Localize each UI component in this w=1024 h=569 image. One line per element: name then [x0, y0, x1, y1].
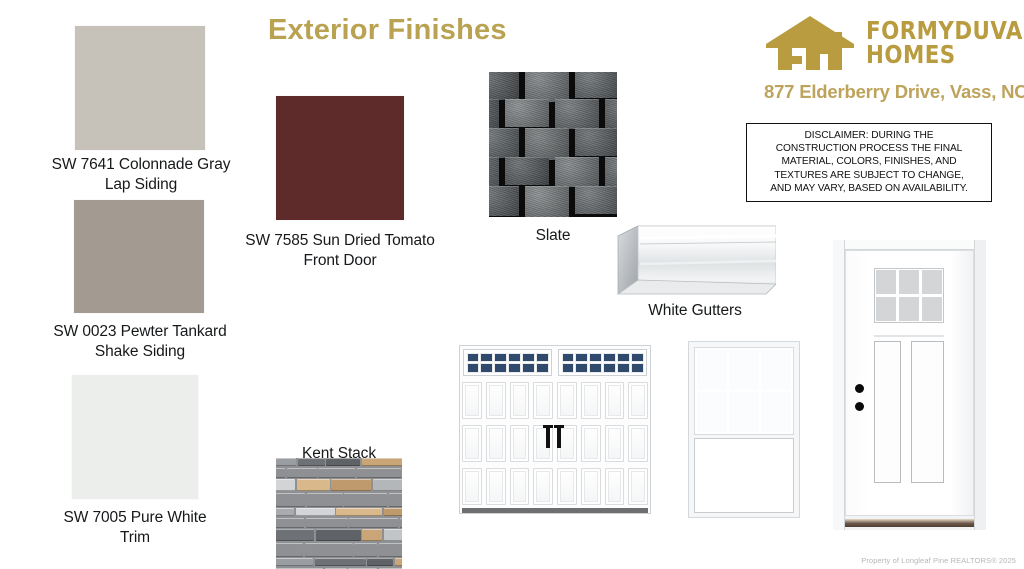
copyright-credit: Property of Longleaf Pine REALTORS® 2025 [861, 556, 1016, 565]
door-right-jamb [974, 240, 986, 530]
garage-door-panel [605, 382, 625, 419]
window-pane [617, 363, 629, 372]
door-lite [899, 270, 919, 294]
stone-unit [400, 518, 403, 528]
stone-unit [367, 558, 393, 566]
window-lite [761, 392, 791, 432]
swatch-pure-white [72, 375, 198, 499]
garage-door-panel [533, 425, 553, 462]
stone-unit [276, 543, 303, 557]
stone-unit [349, 518, 398, 528]
shingle-tab [489, 186, 519, 216]
stone-unit [297, 479, 330, 491]
window-pane [467, 353, 479, 362]
stone-unit [316, 529, 361, 541]
window-pane [494, 353, 506, 362]
disclaimer-line: DISCLAIMER: DURING THE [751, 129, 987, 142]
stone-unit [276, 518, 304, 528]
door-lite [876, 297, 896, 321]
shingle-tab [525, 128, 569, 160]
shingle-tab [489, 157, 499, 189]
stone-unit [331, 479, 371, 491]
disclaimer-line: MATERIAL, COLORS, FINISHES, AND [751, 155, 987, 168]
window-lower-sash [694, 438, 794, 513]
stone-unit [362, 529, 382, 541]
window-lite [761, 350, 791, 390]
garage-door-panel [605, 468, 625, 505]
garage-door-panel [628, 382, 648, 419]
swatch-color-chip [276, 96, 404, 220]
window-pane [603, 363, 615, 372]
disclaimer-line: AND MAY VARY, BASED ON AVAILABILITY. [751, 182, 987, 195]
stone-unit [357, 468, 401, 478]
swatch-label-line1: SW 0023 Pewter Tankard [24, 322, 256, 342]
swatch-label-line2: Shake Siding [24, 342, 256, 362]
stone-unit [395, 558, 403, 566]
stone-unit [306, 518, 348, 528]
door-lite-grid [874, 268, 944, 323]
shingle-tab [555, 157, 599, 187]
garage-door-panel-row [460, 379, 650, 422]
stone-unit [336, 508, 382, 516]
garage-door-handle-left-cap [543, 425, 553, 428]
window-pane [536, 353, 548, 362]
stone-unit [373, 479, 403, 491]
brand-name-line2: HOMES [866, 40, 956, 69]
brand-block: FORMYDUVAL HOMES 877 Elderberry Drive, V… [764, 14, 1016, 103]
window-pane [467, 363, 479, 372]
property-address: 877 Elderberry Drive, Vass, NC [764, 81, 1016, 103]
swatch-pewter-tankard [74, 200, 204, 313]
disclaimer-box: DISCLAIMER: DURING THE CONSTRUCTION PROC… [746, 123, 992, 202]
swatch-label-pure-white: SW 7005 Pure White Trim [19, 508, 251, 548]
shingle-tab [505, 157, 549, 185]
garage-door-panel [628, 468, 648, 505]
stone-unit [276, 529, 314, 541]
sample-kent-stack-stone [276, 458, 402, 569]
garage-door-panel [581, 425, 601, 462]
window-pane [589, 353, 601, 362]
stone-unit [287, 468, 317, 478]
sample-white-gutters [616, 222, 776, 302]
garage-door-panel [510, 382, 530, 419]
brand-row: FORMYDUVAL HOMES [764, 14, 1016, 72]
product-garage-door [459, 345, 651, 514]
stone-unit [315, 558, 366, 566]
window-pane [508, 363, 520, 372]
garage-door-window-row [460, 346, 650, 379]
window-pane [522, 353, 534, 362]
swatch-label-line1: SW 7585 Sun Dried Tomato [224, 231, 456, 251]
window-pane [536, 363, 548, 372]
shingle-tab [575, 128, 617, 156]
stone-unit [276, 479, 295, 491]
sample-slate-shingle [489, 72, 617, 217]
door-lite [922, 297, 942, 321]
garage-door-panel [462, 382, 482, 419]
shingle-tab [525, 72, 569, 102]
stone-unit [276, 558, 313, 566]
swatch-sun-dried-tomato [276, 96, 404, 220]
house-fh-monogram-icon [764, 14, 856, 72]
window-pane [631, 353, 643, 362]
shingle-tab [489, 72, 519, 100]
window-pane [562, 363, 574, 372]
garage-door-panel [462, 425, 482, 462]
garage-door-panel [510, 468, 530, 505]
door-shelf-rail [874, 335, 944, 337]
stone-unit [276, 493, 305, 507]
sample-label-slate: Slate [471, 226, 635, 246]
stone-unit [379, 543, 403, 557]
swatch-label-sun-dried-tomato: SW 7585 Sun Dried Tomato Front Door [224, 231, 456, 271]
garage-door-panel [533, 382, 553, 419]
door-panel-left [874, 341, 901, 483]
garage-door-window-right [558, 349, 647, 376]
stone-unit [384, 529, 403, 541]
swatch-label-line2: Front Door [224, 251, 456, 271]
exterior-finishes-board: Exterior Finishes FORMYDUVAL HOMES 877 E… [0, 0, 1024, 569]
stone-unit [305, 543, 353, 557]
garage-door-handle-right [557, 426, 561, 448]
window-lite [697, 350, 727, 390]
shingle-tab [575, 72, 617, 98]
swatch-label-line2: Lap Siding [25, 175, 257, 195]
window-pane [589, 363, 601, 372]
window-pane [631, 363, 643, 372]
window-pane [480, 353, 492, 362]
garage-door-panel [581, 468, 601, 505]
window-upper-sash [694, 347, 794, 435]
garage-door-panel [557, 382, 577, 419]
garage-door-panel-row [460, 422, 650, 465]
window-pane [508, 353, 520, 362]
garage-door-panel-row [460, 465, 650, 508]
window-pane [562, 353, 574, 362]
garage-door-panel [462, 468, 482, 505]
stone-unit [296, 508, 335, 516]
door-lite [899, 297, 919, 321]
window-pane [480, 363, 492, 372]
door-lite [876, 270, 896, 294]
page-title: Exterior Finishes [268, 14, 507, 47]
garage-door-panel [628, 425, 648, 462]
garage-door-bottom-seal [462, 508, 648, 513]
garage-door-panel [486, 468, 506, 505]
door-left-jamb [833, 240, 845, 530]
window-lite [729, 392, 759, 432]
stone-unit [389, 493, 403, 507]
stone-unit [354, 543, 377, 557]
garage-door-window-left [463, 349, 552, 376]
window-pane [575, 353, 587, 362]
shingle-tab [605, 157, 617, 189]
stone-unit [384, 508, 403, 516]
stone-unit [307, 493, 343, 507]
disclaimer-line: CONSTRUCTION PROCESS THE FINAL [751, 142, 987, 155]
window-pane [575, 363, 587, 372]
stone-unit [276, 468, 285, 478]
swatch-color-chip [74, 200, 204, 313]
swatch-colonnade-gray [75, 26, 205, 150]
brand-name: FORMYDUVAL HOMES [866, 19, 1024, 67]
garage-door-panel [486, 382, 506, 419]
door-threshold [845, 519, 974, 527]
stone-unit [344, 493, 387, 507]
stone-unit [318, 468, 355, 478]
swatch-label-line2: Trim [19, 528, 251, 548]
shingle-tab [489, 99, 499, 131]
swatch-label-colonnade-gray: SW 7641 Colonnade Gray Lap Siding [25, 155, 257, 195]
garage-door-panel [557, 468, 577, 505]
stone-unit [276, 508, 294, 516]
window-pane [617, 353, 629, 362]
swatch-color-chip [75, 26, 205, 150]
shingle-tab [555, 99, 599, 129]
sample-label-white-gutters: White Gutters [613, 301, 777, 321]
shingle-tab [525, 186, 569, 217]
door-panel-right [911, 341, 944, 483]
door-head-casing [833, 240, 986, 250]
window-pane [522, 363, 534, 372]
window-lite [697, 392, 727, 432]
swatch-label-line1: SW 7005 Pure White [19, 508, 251, 528]
shingle-tab [505, 99, 549, 127]
disclaimer-line: TEXTURES ARE SUBJECT TO CHANGE, [751, 169, 987, 182]
garage-door-panel [581, 382, 601, 419]
window-pane [603, 353, 615, 362]
shingle-tab [605, 99, 617, 131]
window-lite [729, 350, 759, 390]
door-lite [922, 270, 942, 294]
garage-door-handle-right-cap [554, 425, 564, 428]
sample-label-kent-stack: Kent Stack [257, 444, 421, 464]
garage-door-panel [605, 425, 625, 462]
door-deadbolt-icon[interactable] [855, 402, 864, 411]
swatch-color-chip [72, 375, 198, 499]
product-entry-door [833, 240, 986, 530]
garage-door-panel [510, 425, 530, 462]
garage-door-panel [486, 425, 506, 462]
swatch-label-pewter-tankard: SW 0023 Pewter Tankard Shake Siding [24, 322, 256, 362]
garage-door-panel [533, 468, 553, 505]
swatch-label-line1: SW 7641 Colonnade Gray [25, 155, 257, 175]
shingle-tab [575, 186, 617, 214]
shingle-tab [489, 128, 519, 158]
product-double-hung-window [688, 341, 800, 518]
window-pane [494, 363, 506, 372]
garage-door-handle-left [546, 426, 550, 448]
door-knob-icon[interactable] [855, 384, 864, 393]
